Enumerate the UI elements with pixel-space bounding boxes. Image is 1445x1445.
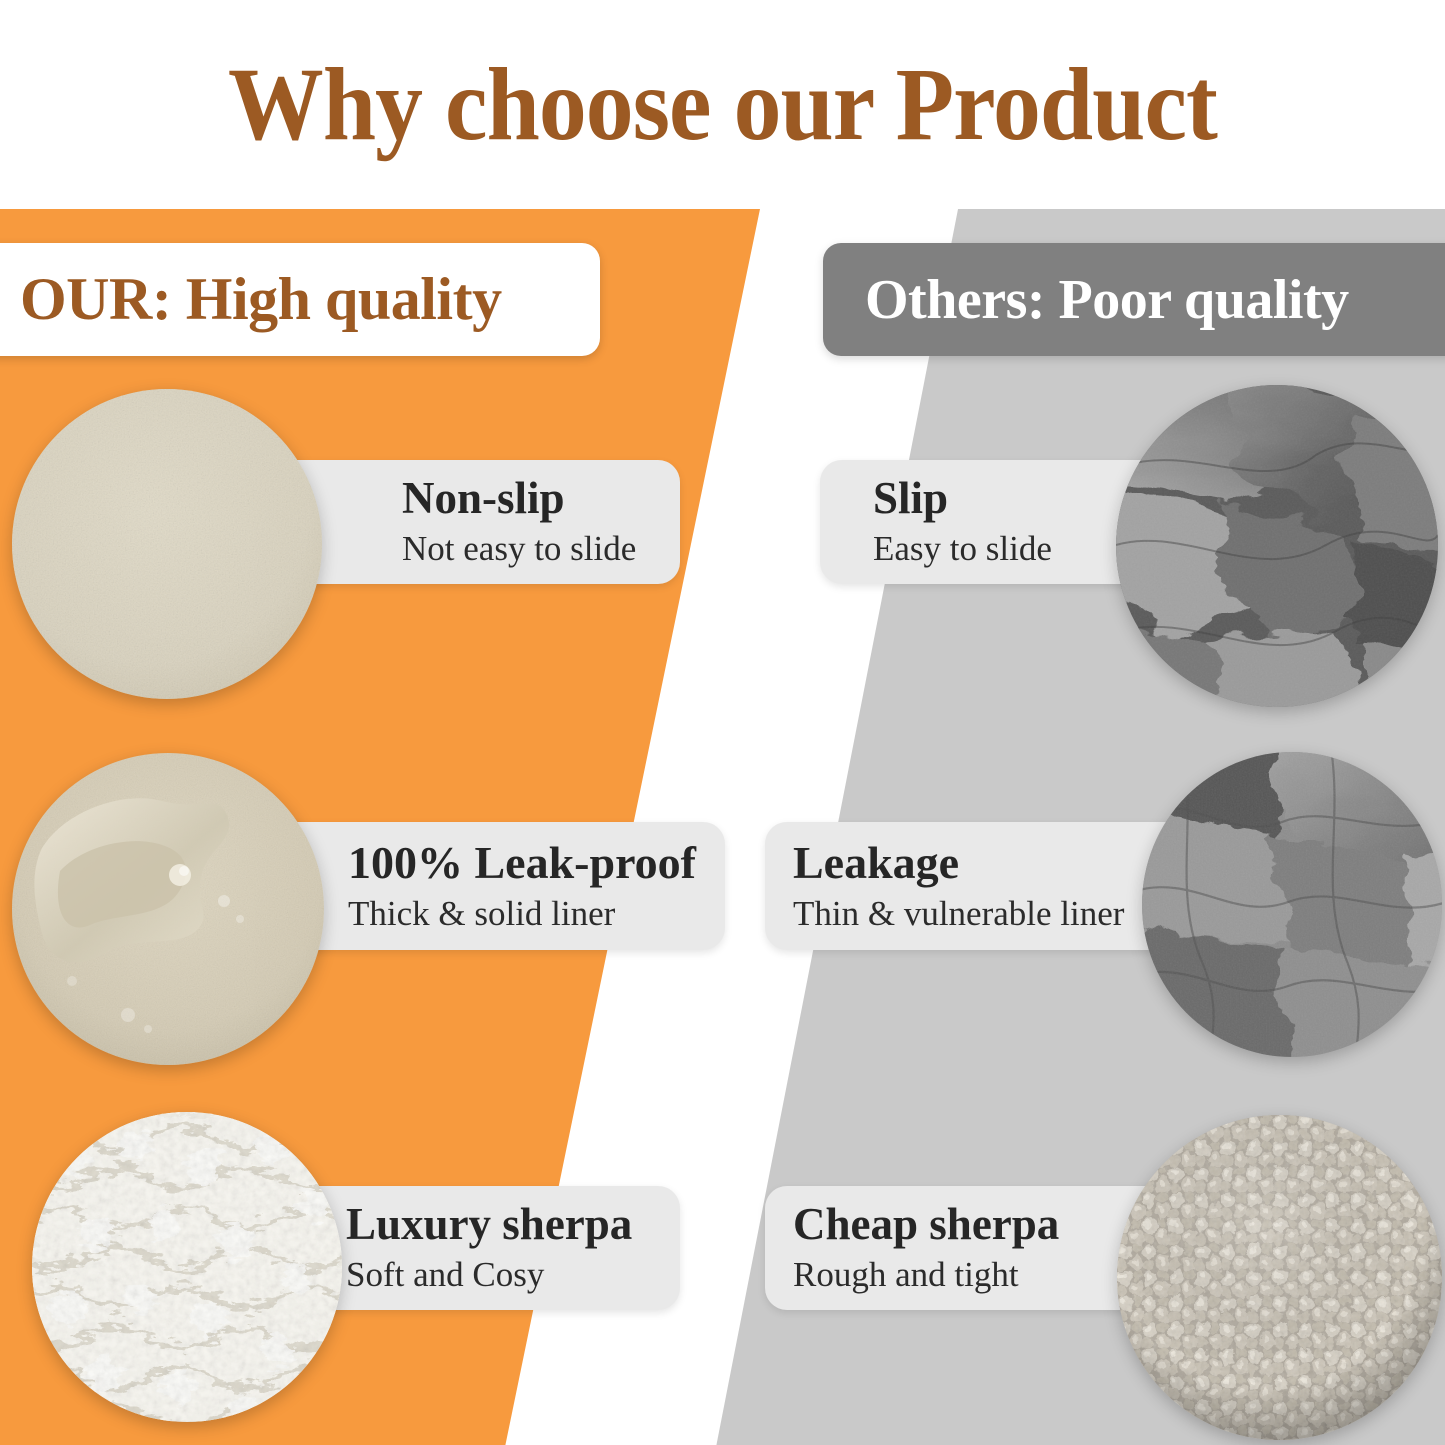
ours-feature-1-heading: Non-slip [402,476,680,522]
ours-feature-1-subtext: Not easy to slide [402,531,680,568]
ours-banner-label: OUR: High quality [20,265,502,334]
page-title: Why choose our Product [58,48,1387,162]
others-banner-label: Others: Poor quality [865,268,1349,332]
leakage-liner-image [1142,752,1442,1057]
ours-feature-3-subtext: Soft and Cosy [346,1257,680,1294]
others-banner: Others: Poor quality [823,243,1445,356]
luxury-sherpa-image [32,1112,342,1422]
ours-feature-2-subtext: Thick & solid liner [348,896,725,933]
ours-banner: OUR: High quality [0,243,600,356]
ours-feature-3-heading: Luxury sherpa [346,1202,680,1248]
leak-proof-image [12,753,324,1065]
infographic-canvas: Why choose our Product OUR: High quality [0,0,1445,1445]
cheap-sherpa-image [1117,1115,1442,1440]
ours-feature-2-heading: 100% Leak-proof [348,840,725,887]
non-slip-backing-image [12,389,322,699]
slip-fabric-image [1116,385,1438,707]
